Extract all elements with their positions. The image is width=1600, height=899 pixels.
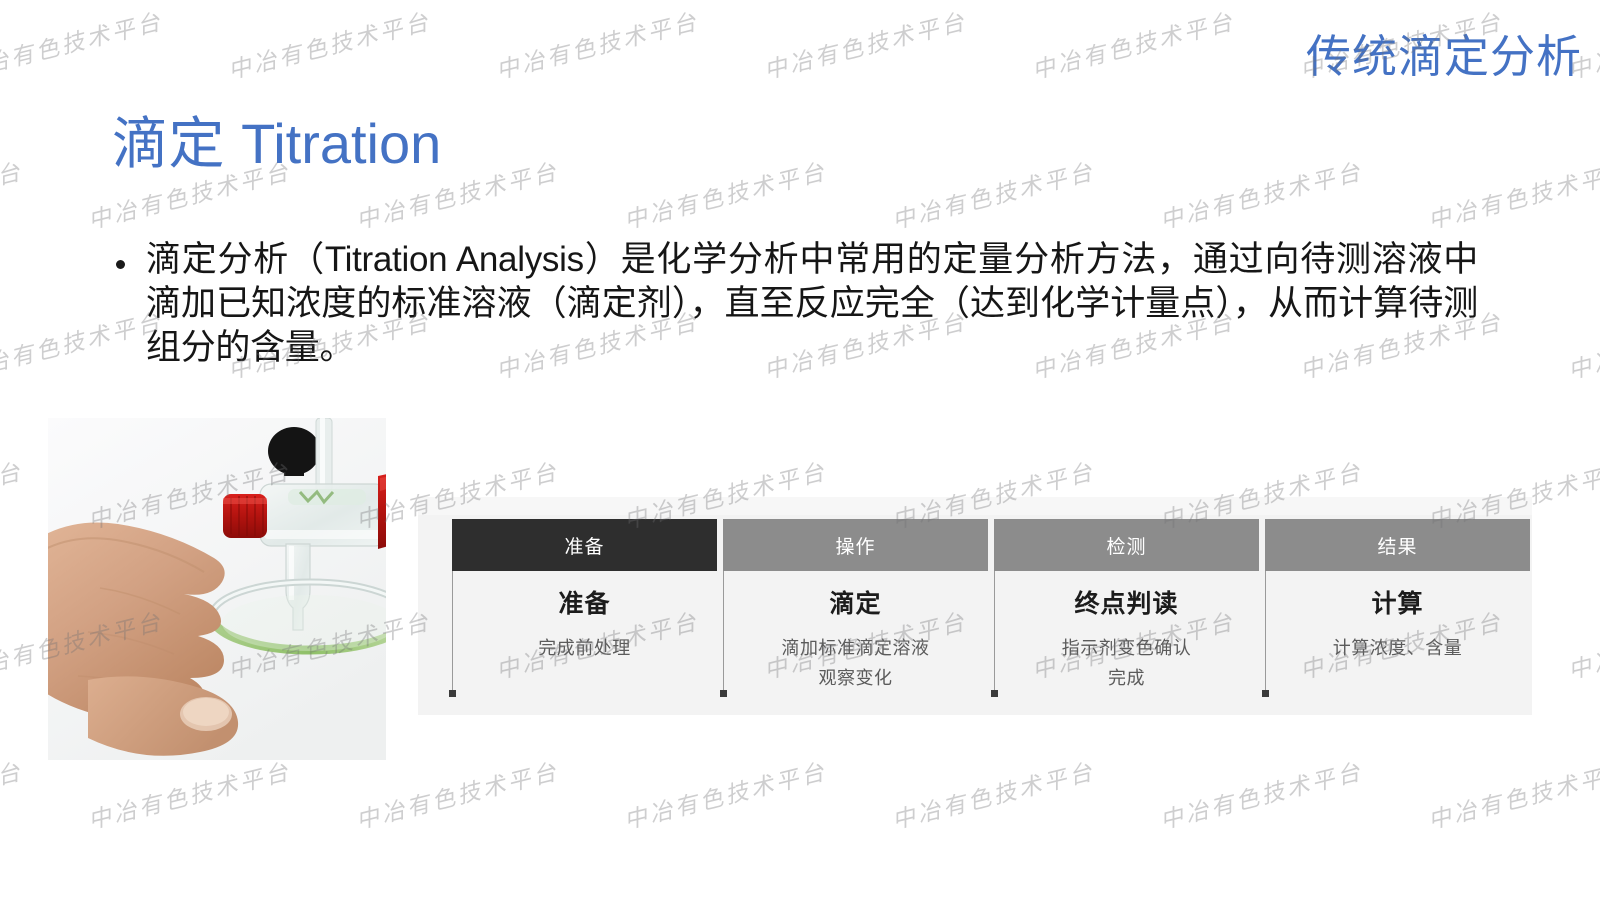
page-title-cn: 滴定 bbox=[112, 112, 225, 175]
process-body-4: 计算 计算浓度、含量 bbox=[1265, 571, 1530, 715]
watermark-text: 中冶有色技术平台 bbox=[492, 2, 702, 85]
process-column-4[interactable]: 结果 计算 计算浓度、含量 bbox=[1265, 519, 1530, 715]
process-title-2: 滴定 bbox=[723, 591, 988, 619]
watermark-text: 中冶有色技术平台 bbox=[1156, 752, 1366, 835]
page-title: 滴定 Titration bbox=[112, 113, 441, 176]
process-table: 准备 准备 完成前处理 操作 滴定 滴加标准滴定溶液观察变化 检测 bbox=[418, 497, 1532, 715]
section-header-title: 传统滴定分析 bbox=[1306, 34, 1582, 79]
watermark-text: 中冶有色技术平台 bbox=[1156, 152, 1366, 235]
titration-photo bbox=[48, 418, 386, 760]
watermark-text: 中冶有色技术平台 bbox=[0, 752, 26, 835]
process-header-3: 检测 bbox=[994, 519, 1259, 571]
watermark-text: 中冶有色技术平台 bbox=[620, 752, 830, 835]
process-body-3: 终点判读 指示剂变色确认完成 bbox=[994, 571, 1259, 715]
process-column-3[interactable]: 检测 终点判读 指示剂变色确认完成 bbox=[994, 519, 1259, 715]
watermark-text: 中冶有色技术平台 bbox=[760, 2, 970, 85]
titration-photo-illustration bbox=[48, 418, 386, 760]
bullet-dot-icon bbox=[116, 260, 125, 269]
process-desc-1: 完成前处理 bbox=[452, 633, 717, 663]
watermark-text: 中冶有色技术平台 bbox=[224, 2, 434, 85]
watermark-text: 中冶有色技术平台 bbox=[84, 752, 294, 835]
page-title-en: Titration bbox=[241, 112, 441, 175]
process-title-4: 计算 bbox=[1265, 591, 1530, 619]
watermark-text: 中冶有色技术平台 bbox=[1564, 302, 1600, 385]
watermark-text: 中冶有色技术平台 bbox=[888, 752, 1098, 835]
process-header-4: 结果 bbox=[1265, 519, 1530, 571]
watermark-text: 中冶有色技术平台 bbox=[1424, 752, 1600, 835]
watermark-text: 中冶有色技术平台 bbox=[352, 752, 562, 835]
process-title-3: 终点判读 bbox=[994, 591, 1259, 619]
bullet-paragraph-row: 滴定分析（Titration Analysis）是化学分析中常用的定量分析方法，… bbox=[112, 238, 1478, 370]
watermark-text: 中冶有色技术平台 bbox=[1028, 2, 1238, 85]
watermark-text: 中冶有色技术平台 bbox=[0, 2, 166, 85]
process-desc-3: 指示剂变色确认完成 bbox=[994, 633, 1259, 693]
process-column-2[interactable]: 操作 滴定 滴加标准滴定溶液观察变化 bbox=[723, 519, 988, 715]
watermark-text: 中冶有色技术平台 bbox=[1564, 602, 1600, 685]
process-body-1: 准备 完成前处理 bbox=[452, 571, 717, 715]
watermark-text: 中冶有色技术平台 bbox=[0, 452, 26, 535]
table-top-ribbon bbox=[418, 497, 1532, 515]
watermark-text: 中冶有色技术平台 bbox=[1424, 152, 1600, 235]
watermark-text: 中冶有色技术平台 bbox=[620, 152, 830, 235]
process-header-1: 准备 bbox=[452, 519, 717, 571]
process-column-1[interactable]: 准备 准备 完成前处理 bbox=[452, 519, 717, 715]
body-paragraph: 滴定分析（Titration Analysis）是化学分析中常用的定量分析方法，… bbox=[146, 238, 1478, 370]
process-body-2: 滴定 滴加标准滴定溶液观察变化 bbox=[723, 571, 988, 715]
body-text-block: 滴定分析（Titration Analysis）是化学分析中常用的定量分析方法，… bbox=[112, 238, 1478, 370]
process-desc-2: 滴加标准滴定溶液观察变化 bbox=[723, 633, 988, 693]
watermark-text: 中冶有色技术平台 bbox=[888, 152, 1098, 235]
process-columns: 准备 准备 完成前处理 操作 滴定 滴加标准滴定溶液观察变化 检测 bbox=[452, 519, 1530, 715]
process-title-1: 准备 bbox=[452, 591, 717, 619]
process-desc-4: 计算浓度、含量 bbox=[1265, 633, 1530, 663]
slide-canvas: 传统滴定分析 滴定 Titration 滴定分析（Titration Analy… bbox=[0, 0, 1600, 899]
watermark-text: 中冶有色技术平台 bbox=[0, 152, 26, 235]
process-header-2: 操作 bbox=[723, 519, 988, 571]
